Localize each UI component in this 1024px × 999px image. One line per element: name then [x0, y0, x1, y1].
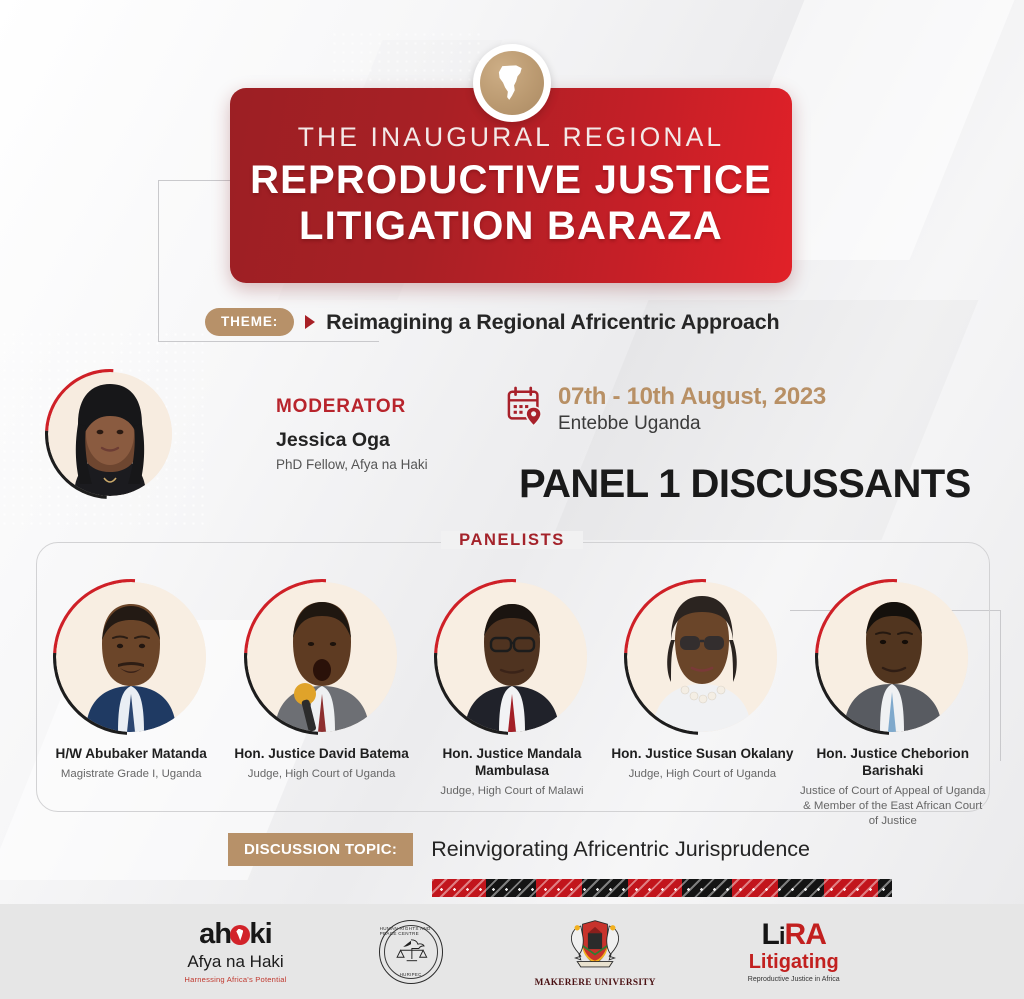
- panelists-label: PANELISTS: [0, 531, 1024, 550]
- title-line-3: LITIGATION BARAZA: [299, 204, 723, 249]
- lira-tagline: Reproductive Justice in Africa: [748, 976, 840, 983]
- theme-tag: THEME:: [205, 308, 294, 336]
- moderator-role: PhD Fellow, Afya na Haki: [276, 457, 428, 472]
- huripec-seal-top-text: HUMAN RIGHTS AND PEACE CENTRE: [380, 926, 442, 936]
- panelist-card: Hon. Justice David Batema Judge, High Co…: [228, 582, 416, 782]
- panelist-role: Judge, High Court of Uganda: [608, 767, 796, 782]
- theme-text: Reimagining a Regional Africentric Appro…: [326, 310, 779, 335]
- moderator-block: MODERATOR Jessica Oga PhD Fellow, Afya n…: [48, 372, 428, 496]
- moderator-portrait: [48, 372, 172, 496]
- panelists-label-text: PANELISTS: [441, 531, 583, 549]
- africa-medallion: [473, 44, 551, 122]
- ahaki-tagline: Harnessing Africa's Potential: [184, 975, 286, 984]
- discussion-topic-tag: DISCUSSION TOPIC:: [228, 833, 413, 866]
- panelist-portrait-4: [627, 582, 777, 732]
- ahaki-logo: ahki Afya na Haki Harnessing Africa's Po…: [184, 920, 286, 984]
- lira-logo: LiRA Litigating Reproductive Justice in …: [748, 920, 840, 983]
- kente-pattern-strip: [432, 879, 892, 897]
- huripec-seal-bottom-text: HURIPEC: [400, 972, 422, 977]
- panelist-card: Hon. Justice Cheborion Barishaki Justice…: [799, 582, 987, 828]
- panelist-portrait-2: [247, 582, 397, 732]
- panelist-card: Hon. Justice Susan Okalany Judge, High C…: [608, 582, 796, 782]
- panelist-name: Hon. Justice Susan Okalany: [608, 746, 796, 763]
- calendar-location-icon: [507, 386, 545, 426]
- panelist-role: Justice of Court of Appeal of Uganda & M…: [799, 784, 987, 828]
- footer-logos: ahki Afya na Haki Harnessing Africa's Po…: [0, 904, 1024, 999]
- panelists-grid: H/W Abubaker Matanda Magistrate Grade I,…: [36, 582, 988, 828]
- moderator-text: MODERATOR Jessica Oga PhD Fellow, Afya n…: [276, 396, 428, 472]
- triangle-right-icon: [305, 315, 315, 329]
- event-date-block: 07th - 10th August, 2023 Entebbe Uganda: [507, 383, 826, 435]
- panelist-role: Magistrate Grade I, Uganda: [37, 767, 225, 782]
- panelist-name: Hon. Justice Cheborion Barishaki: [799, 746, 987, 780]
- panel-heading: PANEL 1 DISCUSSANTS: [519, 462, 971, 507]
- theme-row: THEME: Reimagining a Regional Africentri…: [205, 308, 779, 336]
- title-line-2: REPRODUCTIVE JUSTICE: [250, 158, 772, 203]
- moderator-label: MODERATOR: [276, 396, 428, 418]
- discussion-topic-row: DISCUSSION TOPIC: Reinvigorating Africen…: [228, 833, 810, 866]
- panelist-portrait-3: [437, 582, 587, 732]
- panelist-card: Hon. Justice Mandala Mambulasa Judge, Hi…: [418, 582, 606, 799]
- huripec-seal-icon: HUMAN RIGHTS AND PEACE CENTRE HURIPEC: [379, 920, 443, 984]
- makerere-logo: MAKERERE UNIVERSITY: [535, 915, 656, 988]
- huripec-logo: HUMAN RIGHTS AND PEACE CENTRE HURIPEC: [379, 920, 443, 984]
- panelist-role: Judge, High Court of Malawi: [418, 784, 606, 799]
- discussion-topic-text: Reinvigorating Africentric Jurisprudence: [431, 833, 810, 866]
- panelist-card: H/W Abubaker Matanda Magistrate Grade I,…: [37, 582, 225, 782]
- moderator-name: Jessica Oga: [276, 429, 428, 452]
- event-location: Entebbe Uganda: [558, 413, 826, 435]
- ahaki-subtitle: Afya na Haki: [187, 952, 283, 972]
- panelist-role: Judge, High Court of Uganda: [228, 767, 416, 782]
- panelist-name: H/W Abubaker Matanda: [37, 746, 225, 763]
- panelist-name: Hon. Justice David Batema: [228, 746, 416, 763]
- lira-wordmark: LiRA: [762, 920, 826, 950]
- ahaki-wordmark: ahki: [199, 920, 272, 949]
- ahaki-africa-dot-icon: [230, 925, 250, 945]
- lira-subtitle: Litigating: [749, 951, 839, 973]
- makerere-crest-icon: [563, 915, 627, 974]
- panelist-name: Hon. Justice Mandala Mambulasa: [418, 746, 606, 780]
- title-line-1: THE INAUGURAL REGIONAL: [298, 122, 725, 153]
- event-dates: 07th - 10th August, 2023: [558, 383, 826, 411]
- makerere-name: MAKERERE UNIVERSITY: [535, 978, 656, 988]
- africa-continent-icon: [480, 51, 544, 115]
- event-poster: THE INAUGURAL REGIONAL REPRODUCTIVE JUST…: [0, 0, 1024, 999]
- panelist-portrait-5: [818, 582, 968, 732]
- panelist-portrait-1: [56, 582, 206, 732]
